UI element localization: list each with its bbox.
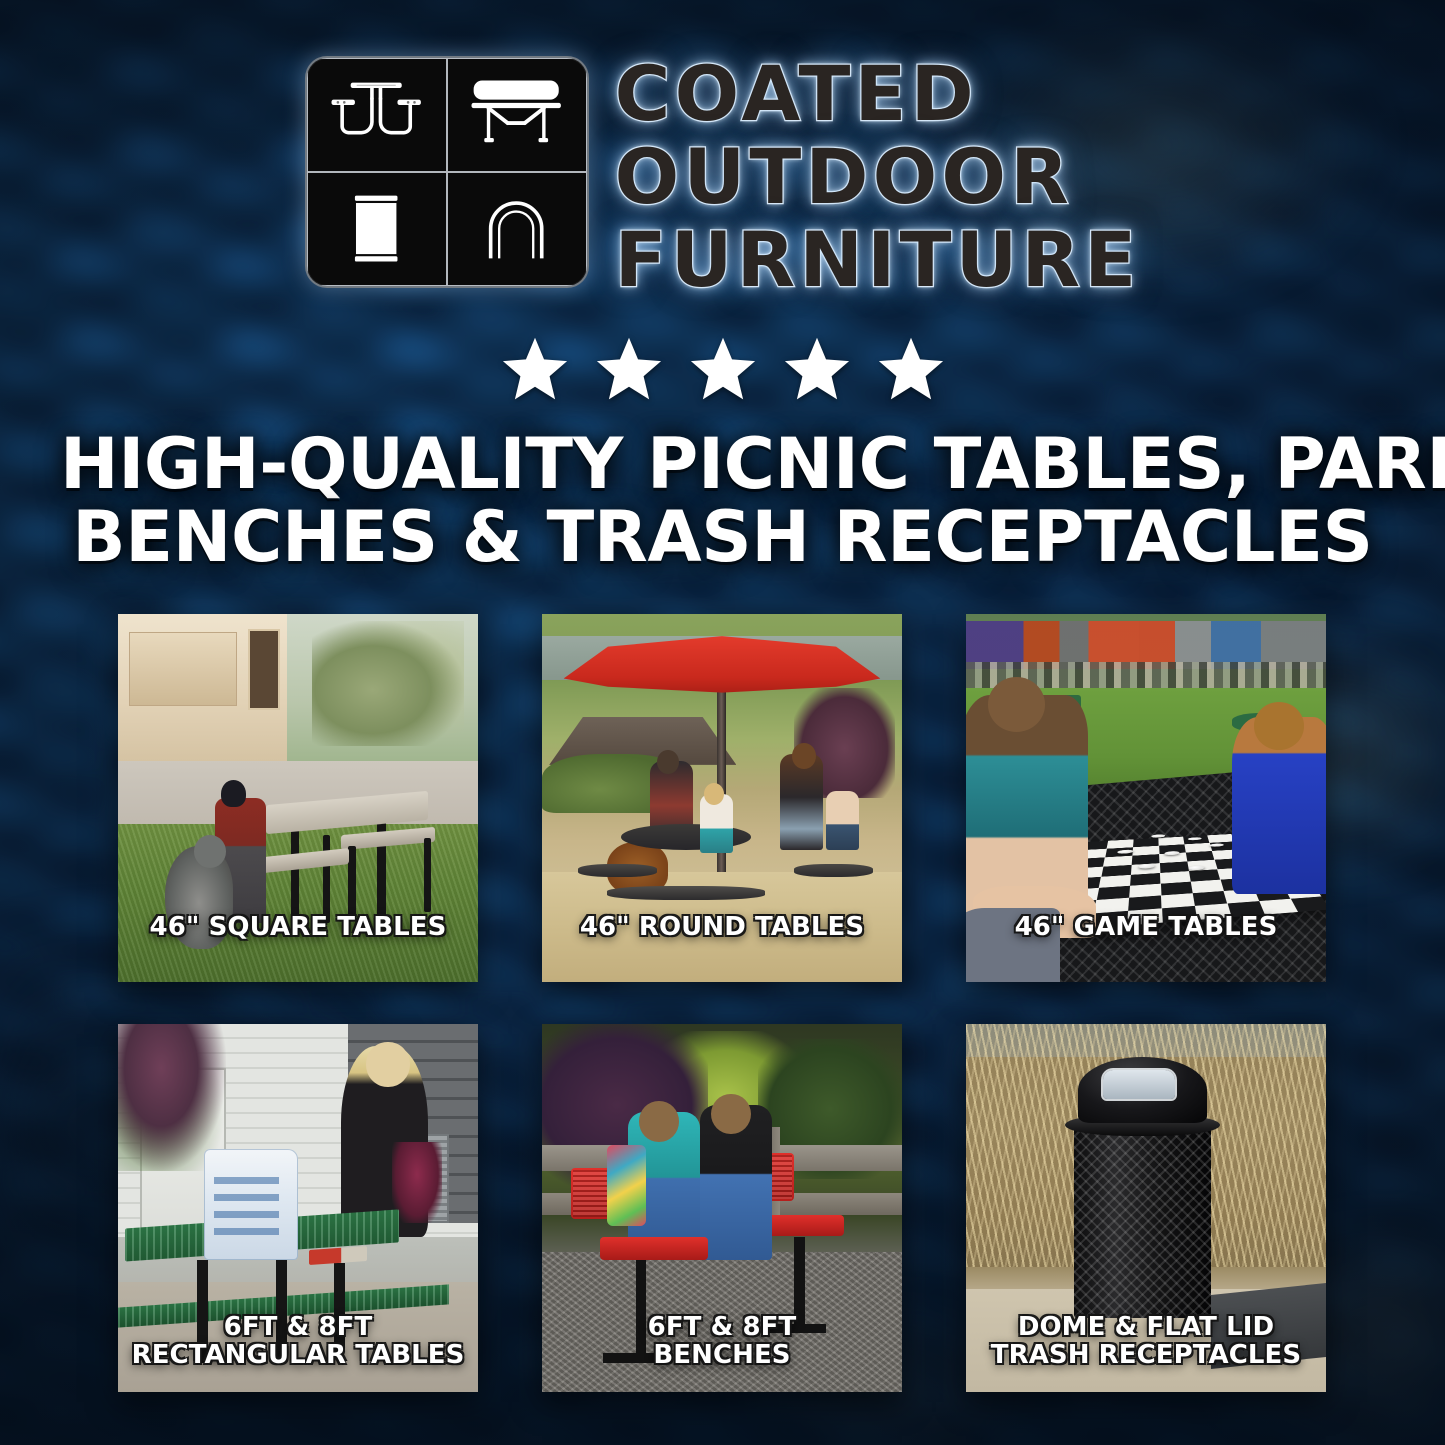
bench-icon xyxy=(447,58,587,172)
product-card-rectangular-tables[interactable]: 6FT & 8FT RECTANGULAR TABLES xyxy=(118,1024,478,1392)
headline-line-1: HIGH-QUALITY PICNIC TABLES, PARK xyxy=(60,428,1385,501)
caption-line-1: 46" SQUARE TABLES xyxy=(124,914,472,942)
product-card-game-tables[interactable]: 46" GAME TABLES xyxy=(966,614,1326,982)
product-caption-square-tables: 46" SQUARE TABLES xyxy=(124,914,472,942)
caption-line-1: 6FT & 8FT xyxy=(548,1314,896,1342)
product-card-benches[interactable]: 6FT & 8FT BENCHES xyxy=(542,1024,902,1392)
caption-line-2: TRASH RECEPTACLES xyxy=(972,1342,1320,1370)
flat-lid-trash-icon xyxy=(307,172,447,286)
product-card-trash-receptacles[interactable]: DOME & FLAT LID TRASH RECEPTACLES xyxy=(966,1024,1326,1392)
star-icon xyxy=(687,334,759,404)
caption-line-2: BENCHES xyxy=(548,1342,896,1370)
dome-lid-trash-icon xyxy=(447,172,587,286)
star-icon xyxy=(593,334,665,404)
product-caption-rectangular-tables: 6FT & 8FT RECTANGULAR TABLES xyxy=(124,1314,472,1370)
product-caption-benches: 6FT & 8FT BENCHES xyxy=(548,1314,896,1370)
caption-line-2: RECTANGULAR TABLES xyxy=(124,1342,472,1370)
star-icon xyxy=(781,334,853,404)
caption-line-1: DOME & FLAT LID xyxy=(972,1314,1320,1342)
product-caption-round-tables: 46" ROUND TABLES xyxy=(548,914,896,942)
product-card-round-tables[interactable]: 46" ROUND TABLES xyxy=(542,614,902,982)
product-caption-game-tables: 46" GAME TABLES xyxy=(972,914,1320,942)
caption-line-1: 46" GAME TABLES xyxy=(972,914,1320,942)
product-card-square-tables[interactable]: 46" SQUARE TABLES xyxy=(118,614,478,982)
product-caption-trash-receptacles: DOME & FLAT LID TRASH RECEPTACLES xyxy=(972,1314,1320,1370)
logo-wordmark: COATED OUTDOOR FURNITURE xyxy=(615,56,1141,297)
product-grid: 46" SQUARE TABLES xyxy=(118,614,1327,1392)
logo-line-furniture: FURNITURE xyxy=(615,224,1141,297)
star-icon xyxy=(499,334,571,404)
caption-line-1: 46" ROUND TABLES xyxy=(548,914,896,942)
logo-line-coated: COATED xyxy=(615,58,1141,131)
star-rating xyxy=(0,334,1445,404)
star-icon xyxy=(875,334,947,404)
brand-logo: COATED OUTDOOR FURNITURE xyxy=(0,56,1445,297)
picnic-table-icon xyxy=(307,58,447,172)
logo-line-outdoor: OUTDOOR xyxy=(615,141,1141,214)
logo-mark xyxy=(305,56,589,288)
caption-line-1: 6FT & 8FT xyxy=(124,1314,472,1342)
headline-line-2: BENCHES & TRASH RECEPTACLES xyxy=(60,501,1385,574)
page-headline: HIGH-QUALITY PICNIC TABLES, PARK BENCHES… xyxy=(60,428,1385,574)
